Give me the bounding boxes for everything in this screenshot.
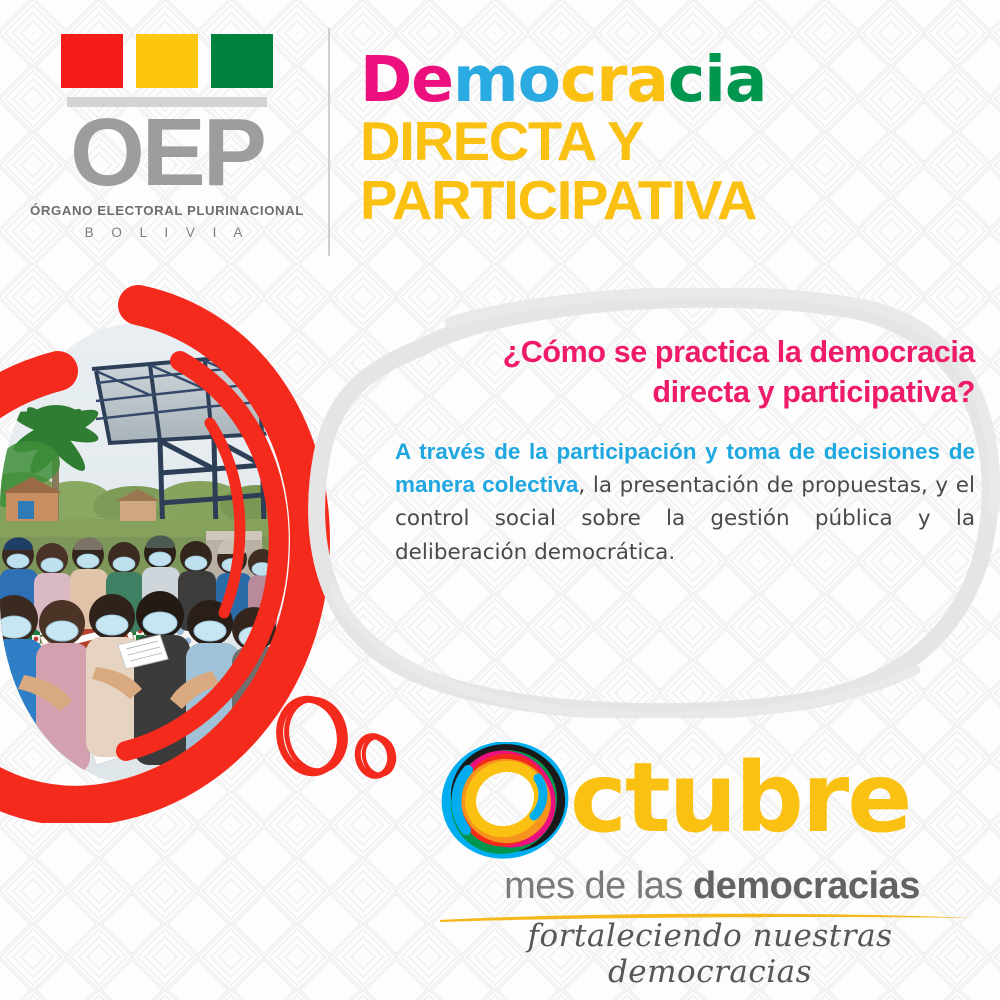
octubre-subtitle-bold: democracias bbox=[693, 865, 920, 907]
poster-canvas: OEP ÓRGANO ELECTORAL PLURINACIONAL B O L… bbox=[0, 0, 1000, 1000]
poster-title-block: Democracia DIRECTA Y PARTICIPATIVA bbox=[360, 48, 980, 231]
octubre-subtitle: mes de las democracias bbox=[452, 866, 972, 908]
title-directa-participativa: DIRECTA Y PARTICIPATIVA bbox=[360, 112, 992, 231]
oep-institution-line1: ÓRGANO ELECTORAL PLURINACIONAL bbox=[22, 203, 312, 218]
oep-logo: OEP ÓRGANO ELECTORAL PLURINACIONAL B O L… bbox=[22, 34, 312, 240]
poster-header: OEP ÓRGANO ELECTORAL PLURINACIONAL B O L… bbox=[0, 0, 1000, 275]
octubre-o-swirl-icon bbox=[438, 742, 573, 860]
oep-acronym: OEP bbox=[22, 109, 312, 197]
flag-square-red bbox=[61, 34, 123, 88]
title-part-cra: cra bbox=[560, 43, 668, 116]
octubre-subtitle-light: mes de las bbox=[504, 865, 693, 907]
electoral-photo bbox=[0, 323, 278, 785]
title-part-cia: cia bbox=[668, 43, 766, 116]
question-line-2: directa y participativa? bbox=[395, 372, 975, 412]
answer-paragraph: A través de la participación y toma de d… bbox=[395, 435, 975, 569]
title-part-mo: mo bbox=[453, 43, 560, 116]
question-line-1: ¿Cómo se practica la democracia bbox=[395, 332, 975, 372]
flag-square-green bbox=[211, 34, 273, 88]
bolivia-flag-squares bbox=[22, 34, 312, 88]
octubre-tagline: fortaleciendo nuestras democracias bbox=[440, 918, 980, 990]
title-part-de: De bbox=[360, 43, 453, 116]
flag-square-yellow bbox=[136, 34, 198, 88]
title-democracia: Democracia bbox=[360, 48, 980, 111]
header-vertical-divider bbox=[328, 28, 330, 256]
bubble-text-content: ¿Cómo se practica la democracia directa … bbox=[395, 332, 975, 568]
oep-institution-line2: B O L I V I A bbox=[22, 225, 312, 240]
octubre-wordmark: ctubre bbox=[570, 750, 910, 846]
octubre-logo: ctubre mes de las democracias fortalecie… bbox=[430, 742, 990, 972]
